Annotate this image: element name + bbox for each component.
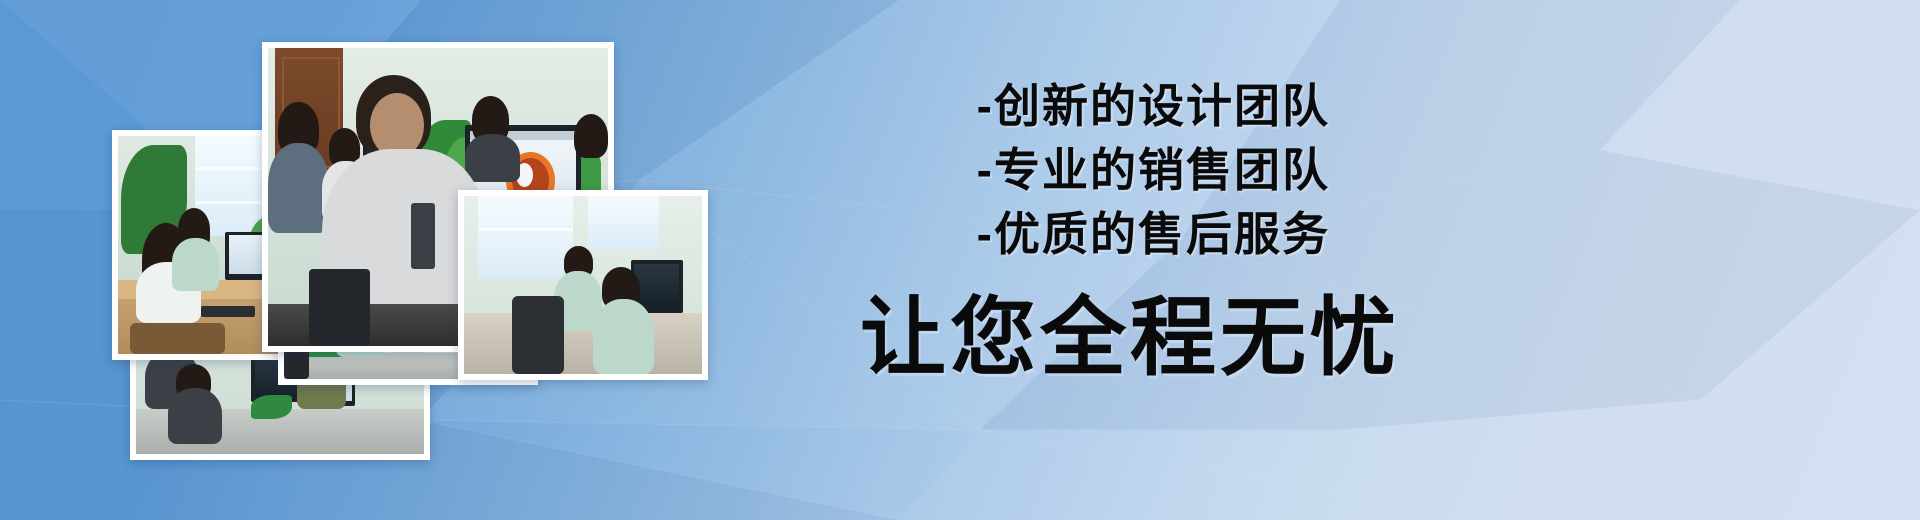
bullet-item-1: -创新的设计团队 bbox=[860, 74, 1330, 138]
banner-text-block: -创新的设计团队 -专业的销售团队 -优质的售后服务 让您全程无忧 bbox=[860, 0, 1920, 520]
banner-headline: 让您全程无忧 bbox=[860, 288, 1380, 388]
bullet-list: -创新的设计团队 -专业的销售团队 -优质的售后服务 bbox=[860, 74, 1380, 266]
promo-banner: -创新的设计团队 -专业的销售团队 -优质的售后服务 让您全程无忧 bbox=[0, 0, 1920, 520]
photo-collage bbox=[0, 0, 780, 520]
photo-office-right bbox=[458, 190, 708, 380]
bullet-item-3: -优质的售后服务 bbox=[860, 202, 1330, 266]
bullet-item-2: -专业的销售团队 bbox=[860, 138, 1330, 202]
